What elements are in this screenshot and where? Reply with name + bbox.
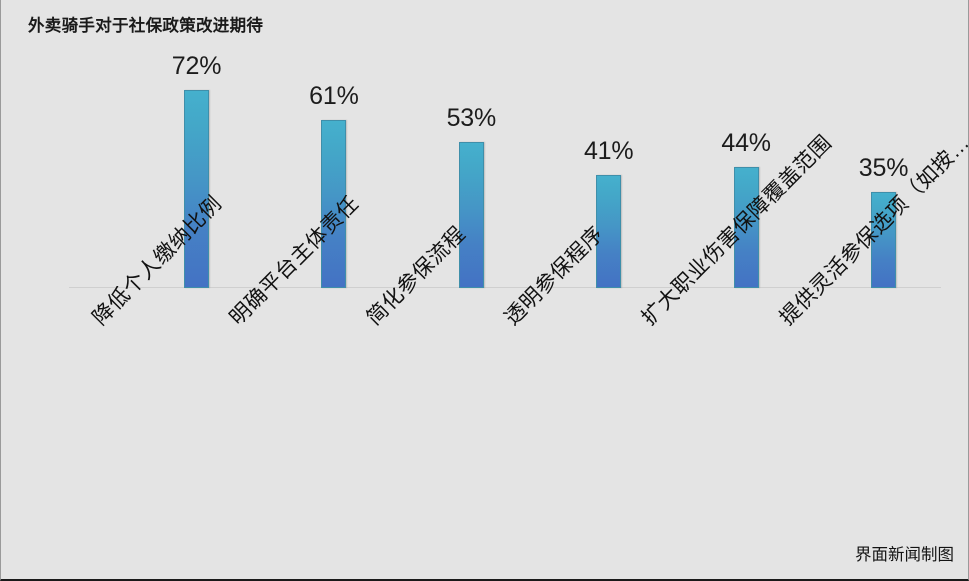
bar-value-label: 61%: [294, 82, 374, 111]
bar-value-label: 53%: [431, 104, 511, 133]
category-label: 透明参保程序: [497, 219, 609, 331]
bar-value-label: 44%: [706, 129, 786, 158]
chart-canvas: 外卖骑手对于社保政策改进期待 72%61%53%41%44%35% 降低个人缴纳…: [0, 0, 969, 581]
bar[interactable]: [459, 142, 484, 288]
bar-value-label: 41%: [569, 137, 649, 166]
bar-value-label: 72%: [157, 52, 237, 81]
plot-area: 72%61%53%41%44%35% 降低个人缴纳比例明确平台主体责任简化参保流…: [1, 0, 969, 581]
watermark-credit: 界面新闻制图: [855, 541, 954, 565]
category-label: 简化参保流程: [359, 219, 471, 331]
